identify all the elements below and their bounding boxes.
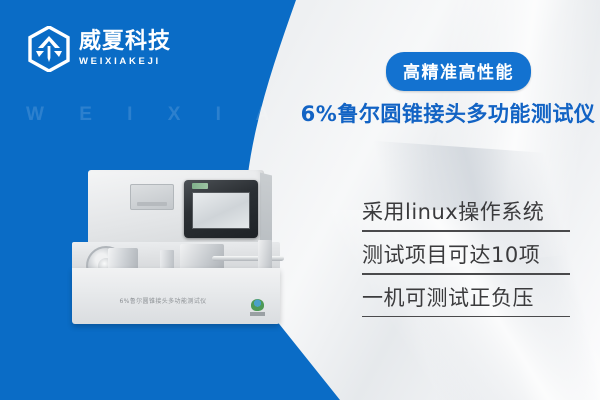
brand-name-cn: 威夏科技 (79, 31, 171, 53)
hero-badge: 高精准高性能 (386, 52, 531, 91)
hexagon-arrow-logo-icon (28, 26, 70, 72)
feature-label: 一机可测试正负压 (362, 285, 570, 311)
feature-divider (362, 316, 570, 318)
certification-badge-icon (249, 297, 266, 316)
background-watermark: W E I X I A K E J I (26, 104, 326, 126)
feature-divider (362, 230, 570, 232)
feature-label: 采用linux操作系统 (362, 199, 570, 225)
product-console-side (260, 173, 272, 250)
product-hmi-screen (192, 192, 250, 229)
brand-logo-text: 威夏科技 WEIXIAKEJI (79, 31, 171, 67)
certification-badge-mark (251, 299, 264, 311)
promo-banner: 威夏科技 WEIXIAKEJI W E I X I A K E J I 高精准高… (0, 0, 600, 400)
product-hmi-indicator-icon (192, 183, 208, 189)
feature-label: 测试项目可达10项 (362, 242, 570, 268)
product-image: 6%鲁尔圆锥接头多功能测试仪 (62, 168, 292, 368)
hero-headline: 6%鲁尔圆锥接头多功能测试仪 (300, 98, 596, 128)
feature-item: 采用linux操作系统 (362, 196, 570, 239)
product-base-cabinet: 6%鲁尔圆锥接头多功能测试仪 (72, 268, 280, 324)
brand-logo: 威夏科技 WEIXIAKEJI (28, 26, 171, 72)
feature-list: 采用linux操作系统 测试项目可达10项 一机可测试正负压 (362, 196, 570, 324)
product-console-housing (88, 170, 264, 246)
product-test-shaft (212, 256, 284, 261)
feature-divider (362, 273, 570, 275)
feature-item: 一机可测试正负压 (362, 282, 570, 325)
product-base-label: 6%鲁尔圆锥接头多功能测试仪 (72, 296, 254, 305)
product-hmi-panel (184, 180, 258, 238)
product-access-plate (130, 184, 174, 210)
feature-item: 测试项目可达10项 (362, 239, 570, 282)
brand-name-en: WEIXIAKEJI (79, 57, 171, 67)
certification-badge-text (250, 312, 265, 316)
